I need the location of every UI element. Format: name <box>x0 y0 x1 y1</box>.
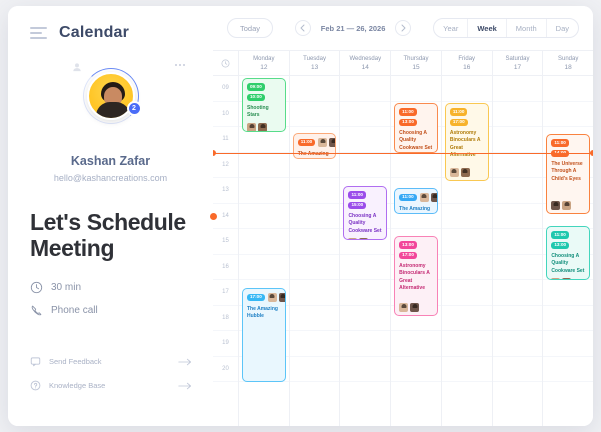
calendar-event[interactable]: 11:00The Amazing Hubble <box>394 188 438 214</box>
meeting-meta: 30 min Phone call <box>30 281 191 317</box>
day-column-monday[interactable]: 09:0010:00Shooting Stars17:00The Amazing… <box>239 76 290 426</box>
view-day[interactable]: Day <box>547 19 578 37</box>
day-name: Friday <box>458 56 475 62</box>
day-name: Monday <box>253 56 274 62</box>
event-title: Choosing A Quality Cookware Set <box>399 130 433 152</box>
meta-duration: 30 min <box>30 281 191 294</box>
attendee-avatar <box>399 303 408 312</box>
grid-cell[interactable] <box>493 153 543 179</box>
grid-cell[interactable] <box>239 153 289 179</box>
current-time-indicator <box>213 153 593 154</box>
view-month[interactable]: Month <box>507 19 547 37</box>
notification-badge: 2 <box>127 101 142 116</box>
clock-icon <box>30 281 43 294</box>
meta-duration-label: 30 min <box>51 282 81 293</box>
day-columns: 09:0010:00Shooting Stars17:00The Amazing… <box>239 76 593 426</box>
event-tags: 11:00 <box>298 139 316 147</box>
grid-cell[interactable] <box>290 102 340 128</box>
grid-cell[interactable] <box>493 331 543 357</box>
grid-cell[interactable] <box>290 76 340 102</box>
hour-label: 15 <box>213 238 238 244</box>
grid-cell[interactable] <box>340 153 390 179</box>
day-header-tuesday[interactable]: Tuesday13 <box>290 51 341 75</box>
time-slot: 12 <box>213 153 238 179</box>
attendee-avatar <box>562 201 571 210</box>
grid-cell[interactable] <box>290 331 340 357</box>
grid-cell[interactable] <box>493 178 543 204</box>
more-options-icon[interactable] <box>175 64 185 66</box>
view-week[interactable]: Week <box>468 19 506 37</box>
attendee-avatar <box>348 238 357 240</box>
event-tags: 11:00 <box>399 194 417 202</box>
calendar-app: Calendar 2 Kashan Zafar hello@kashancrea… <box>8 6 593 426</box>
calendar-event[interactable]: 11:0015:00Choosing A Quality Cookware Se… <box>343 186 387 240</box>
day-column-saturday[interactable] <box>493 76 544 426</box>
chevron-right-icon <box>401 24 406 32</box>
knowledge-base-link[interactable]: Knowledge Base <box>30 380 192 391</box>
grid-cell[interactable] <box>543 331 593 357</box>
grid-cell[interactable] <box>239 204 289 230</box>
event-attendees <box>551 275 585 280</box>
event-tags: 17:00 <box>247 294 265 302</box>
day-name: Saturday <box>505 56 529 62</box>
calendar-event[interactable]: 11:0013:00Choosing A Quality Cookware Se… <box>394 103 438 153</box>
time-slot: 09 <box>213 76 238 102</box>
user-name: Kashan Zafar <box>30 154 191 168</box>
grid-cell[interactable] <box>543 76 593 102</box>
grid-cell[interactable] <box>442 204 492 230</box>
attendee-avatar <box>410 303 419 312</box>
grid-cell[interactable] <box>442 306 492 332</box>
hour-label: 17 <box>213 289 238 295</box>
attendee-avatar <box>420 193 429 202</box>
clock-icon <box>221 59 230 68</box>
calendar-event[interactable]: 11:0017:00Astronomy Binoculars A Great A… <box>445 103 489 181</box>
user-email: hello@kashancreations.com <box>30 173 191 183</box>
calendar-event[interactable]: 11:00The Amazing Hubble <box>293 133 337 159</box>
hour-label: 16 <box>213 264 238 270</box>
grid-cell[interactable] <box>442 229 492 255</box>
event-time-tag: 10:00 <box>247 94 265 102</box>
time-slot: 16 <box>213 255 238 281</box>
event-attendees <box>450 165 484 177</box>
prev-week-button[interactable] <box>295 20 311 36</box>
event-time-tag: 09:00 <box>247 83 265 91</box>
grid-cell[interactable] <box>543 280 593 306</box>
calendar-event[interactable]: 09:0010:00Shooting Stars <box>242 78 286 132</box>
avatar[interactable]: 2 <box>87 72 135 120</box>
grid-cell[interactable] <box>493 357 543 383</box>
grid-cell[interactable] <box>239 255 289 281</box>
event-tags: 11:0017:00 <box>450 108 484 126</box>
hour-label: 13 <box>213 187 238 193</box>
hour-label: 10 <box>213 111 238 117</box>
calendar-event[interactable]: 11:0013:00Choosing A Quality Cookware Se… <box>546 226 590 280</box>
arrow-right-icon <box>178 358 192 366</box>
event-attendees <box>399 300 433 312</box>
attendee-avatar <box>562 278 571 280</box>
user-icon <box>72 62 82 72</box>
day-name: Wednesday <box>350 56 382 62</box>
day-number: 18 <box>565 64 572 71</box>
view-switcher: Year Week Month Day <box>433 18 579 38</box>
grid-cell[interactable] <box>290 306 340 332</box>
app-title: Calendar <box>59 24 129 42</box>
day-column-friday[interactable]: 11:0017:00Astronomy Binoculars A Great A… <box>442 76 493 426</box>
attendee-avatar <box>359 238 368 240</box>
chat-icon <box>30 356 41 367</box>
event-tags: 11:0013:00 <box>551 231 585 249</box>
page-title: Let's Schedule Meeting <box>30 209 191 261</box>
attendee-avatar <box>268 293 277 302</box>
meta-channel-label: Phone call <box>51 305 98 316</box>
event-time-tag: 13:00 <box>551 242 569 250</box>
hour-label: 18 <box>213 315 238 321</box>
hamburger-icon[interactable] <box>30 27 47 39</box>
grid-cell[interactable] <box>340 306 390 332</box>
day-number: 14 <box>362 64 369 71</box>
time-slot: 17 <box>213 280 238 306</box>
grid-cell[interactable] <box>442 76 492 102</box>
event-attendees <box>551 198 585 210</box>
attendee-avatar <box>279 293 286 302</box>
attendee-avatar <box>551 201 560 210</box>
grid-cell[interactable] <box>493 76 543 102</box>
grid-cell[interactable] <box>493 255 543 281</box>
hour-label: 11 <box>213 136 238 142</box>
day-header-monday[interactable]: Monday12 <box>239 51 290 75</box>
event-attendees <box>247 120 281 132</box>
attendee-avatar <box>431 193 438 202</box>
grid-cell[interactable] <box>442 280 492 306</box>
grid-cell[interactable] <box>290 280 340 306</box>
event-time-tag: 15:00 <box>348 202 366 210</box>
time-slot: 19 <box>213 331 238 357</box>
event-attendees <box>318 138 336 147</box>
grid-cell[interactable] <box>543 102 593 128</box>
day-header-wednesday[interactable]: Wednesday14 <box>340 51 391 75</box>
date-nav: Feb 21 — 26, 2026 <box>295 20 412 36</box>
day-number: 16 <box>463 64 470 71</box>
hour-label: 20 <box>213 366 238 372</box>
grid-cell[interactable] <box>239 229 289 255</box>
chevron-left-icon <box>300 24 305 32</box>
event-time-tag: 17:00 <box>399 252 417 260</box>
phone-icon <box>30 304 43 317</box>
event-attendees <box>420 193 438 202</box>
time-slot: 11 <box>213 127 238 153</box>
grid-cell[interactable] <box>340 280 390 306</box>
day-header-saturday[interactable]: Saturday17 <box>493 51 544 75</box>
grid-cell[interactable] <box>493 204 543 230</box>
date-range-label: Feb 21 — 26, 2026 <box>321 24 386 33</box>
view-year[interactable]: Year <box>434 19 468 37</box>
day-column-tuesday[interactable]: 11:00The Amazing Hubble <box>290 76 341 426</box>
event-time-tag: 11:00 <box>551 231 569 239</box>
event-title: Choosing A Quality Cookware Set <box>551 253 585 275</box>
attendee-avatar <box>461 168 470 177</box>
event-title: The Amazing Hubble <box>247 306 281 321</box>
time-slot: 18 <box>213 306 238 332</box>
send-feedback-link[interactable]: Send Feedback <box>30 356 192 367</box>
sidebar-header: Calendar <box>30 6 191 42</box>
event-time-tag: 13:00 <box>399 241 417 249</box>
calendar-panel: Today Feb 21 — 26, 2026 Year Week <box>213 6 593 426</box>
day-column-sunday[interactable]: 11:0014:00The Universe Through A Child's… <box>543 76 593 426</box>
profile-card: 2 <box>30 54 191 150</box>
hour-label: 12 <box>213 162 238 168</box>
calendar-toolbar: Today Feb 21 — 26, 2026 Year Week <box>213 6 593 50</box>
next-week-button[interactable] <box>395 20 411 36</box>
event-tags: 11:0014:00 <box>551 139 585 157</box>
grid-cell[interactable] <box>442 255 492 281</box>
event-time-tag: 17:00 <box>450 119 468 127</box>
event-title: Choosing A Quality Cookware Set <box>348 213 382 235</box>
event-attendees <box>348 235 382 240</box>
day-number: 15 <box>412 64 419 71</box>
grid-cell[interactable] <box>442 357 492 383</box>
calendar-event[interactable]: 11:0014:00The Universe Through A Child's… <box>546 134 590 214</box>
grid-cell[interactable] <box>340 331 390 357</box>
grid-cell[interactable] <box>391 153 441 179</box>
sidebar-footer: Send Feedback Knowledge Base <box>30 356 192 404</box>
event-title: Shooting Stars <box>247 105 281 120</box>
attendee-avatar <box>318 138 327 147</box>
send-feedback-label: Send Feedback <box>49 357 170 366</box>
event-time-tag: 11:00 <box>399 194 417 202</box>
grid-cell[interactable] <box>340 127 390 153</box>
attendee-avatar <box>329 138 336 147</box>
event-attendees <box>268 293 286 302</box>
grid-cell[interactable] <box>493 127 543 153</box>
day-header-thursday[interactable]: Thursday15 <box>391 51 442 75</box>
grid-cell[interactable] <box>290 178 340 204</box>
grid-cell[interactable] <box>340 357 390 383</box>
event-time-tag: 11:00 <box>450 108 468 116</box>
day-header-sunday[interactable]: Sunday18 <box>543 51 593 75</box>
event-time-tag: 11:00 <box>298 139 316 147</box>
grid-cell[interactable] <box>290 255 340 281</box>
grid-cell[interactable] <box>340 102 390 128</box>
arrow-right-icon <box>178 382 192 390</box>
grid-cell[interactable] <box>493 306 543 332</box>
day-header-row: Monday12Tuesday13Wednesday14Thursday15Fr… <box>213 50 593 76</box>
grid-cell[interactable] <box>543 357 593 383</box>
today-button[interactable]: Today <box>227 18 273 38</box>
event-tags: 13:0017:00 <box>399 241 433 259</box>
event-time-tag: 11:00 <box>348 191 366 199</box>
attendee-avatar <box>551 278 560 280</box>
grid-cell[interactable] <box>290 357 340 383</box>
calendar-event[interactable]: 13:0017:00Astronomy Binoculars A Great A… <box>394 236 438 316</box>
grid-cell[interactable] <box>391 331 441 357</box>
grid-cell[interactable] <box>442 178 492 204</box>
event-time-tag: 11:00 <box>399 108 417 116</box>
grid-cell[interactable] <box>493 102 543 128</box>
time-slot: 10 <box>213 102 238 128</box>
attendee-avatar <box>450 168 459 177</box>
grid-cell[interactable] <box>543 306 593 332</box>
knowledge-base-label: Knowledge Base <box>49 381 170 390</box>
grid-cell[interactable] <box>290 204 340 230</box>
timezone-gutter <box>213 51 239 75</box>
day-name: Sunday <box>558 56 578 62</box>
event-tags: 11:0015:00 <box>348 191 382 209</box>
sidebar: Calendar 2 Kashan Zafar hello@kashancrea… <box>8 6 213 426</box>
time-axis: 091011121314151617181920 <box>213 76 239 426</box>
grid-cell[interactable] <box>442 331 492 357</box>
meta-channel: Phone call <box>30 304 191 317</box>
time-slot: 20 <box>213 357 238 383</box>
event-tags: 09:0010:00 <box>247 83 281 101</box>
hour-label: 09 <box>213 85 238 91</box>
day-number: 13 <box>311 64 318 71</box>
event-time-tag: 11:00 <box>551 139 569 147</box>
event-title: The Amazing Hubble <box>399 206 433 214</box>
time-slot: 15 <box>213 229 238 255</box>
grid-cell[interactable] <box>340 76 390 102</box>
event-time-tag: 17:00 <box>247 294 265 302</box>
grid-cell[interactable] <box>493 229 543 255</box>
hour-label: 19 <box>213 340 238 346</box>
now-indicator-dot-left <box>210 213 217 220</box>
help-icon <box>30 380 41 391</box>
day-number: 12 <box>260 64 267 71</box>
grid-cell[interactable] <box>290 229 340 255</box>
grid-cell[interactable] <box>239 178 289 204</box>
event-title: The Universe Through A Child's Eyes <box>551 161 585 183</box>
grid-cell[interactable] <box>340 255 390 281</box>
event-title: Astronomy Binoculars A Great Alternative <box>450 130 484 159</box>
event-title: Astronomy Binoculars A Great Alternative <box>399 263 433 292</box>
grid-cell[interactable] <box>391 357 441 383</box>
day-column-wednesday[interactable]: 11:0015:00Choosing A Quality Cookware Se… <box>340 76 391 426</box>
day-number: 17 <box>514 64 521 71</box>
event-tags: 11:0013:00 <box>399 108 433 126</box>
grid-cell[interactable] <box>391 76 441 102</box>
calendar-grid[interactable]: 091011121314151617181920 09:0010:00Shoot… <box>213 76 593 426</box>
day-name: Thursday <box>404 56 429 62</box>
day-name: Tuesday <box>303 56 326 62</box>
calendar-event[interactable]: 17:00The Amazing Hubble <box>242 288 286 382</box>
grid-cell[interactable] <box>493 280 543 306</box>
attendee-avatar <box>247 123 256 132</box>
attendee-avatar <box>258 123 267 132</box>
time-slot: 13 <box>213 178 238 204</box>
event-time-tag: 13:00 <box>399 119 417 127</box>
day-column-thursday[interactable]: 11:0013:00Choosing A Quality Cookware Se… <box>391 76 442 426</box>
day-header-friday[interactable]: Friday16 <box>442 51 493 75</box>
